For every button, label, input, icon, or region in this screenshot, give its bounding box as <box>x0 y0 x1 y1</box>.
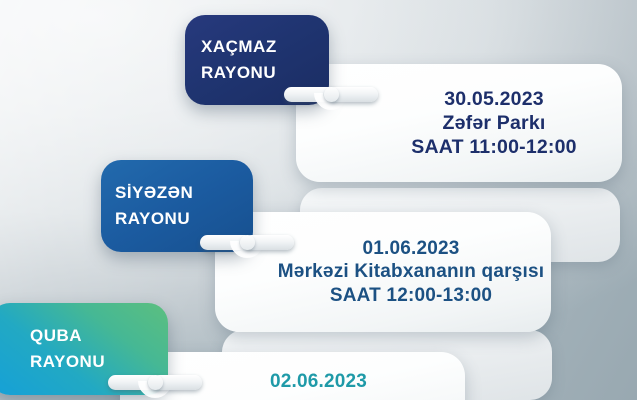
district-badge-quba[interactable]: QUBA RAYONU <box>0 303 168 395</box>
badge-3-district: QUBA <box>30 323 168 349</box>
event-1-place: Zəfər Parkı <box>442 111 545 135</box>
event-2-time: SAAT 12:00-13:00 <box>330 284 492 308</box>
poster-canvas: 30.05.2023 Zəfər Parkı SAAT 11:00-12:00 … <box>0 0 637 400</box>
badge-1-suffix: RAYONU <box>201 60 329 86</box>
event-panel-1[interactable]: 30.05.2023 Zəfər Parkı SAAT 11:00-12:00 <box>296 64 622 182</box>
badge-3-suffix: RAYONU <box>30 349 168 375</box>
badge-1-district: XAÇMAZ <box>201 34 329 60</box>
badge-2-suffix: RAYONU <box>115 206 253 232</box>
event-1-date: 30.05.2023 <box>444 87 544 111</box>
badge-2-district: SİYƏZƏN <box>115 180 253 206</box>
district-badge-xacmaz[interactable]: XAÇMAZ RAYONU <box>185 15 329 105</box>
event-2-place: Mərkəzi Kitabxananın qarşısı <box>278 260 544 284</box>
event-1-time: SAAT 11:00-12:00 <box>411 135 576 159</box>
event-panel-3[interactable]: 02.06.2023 <box>120 352 465 400</box>
event-3-date: 02.06.2023 <box>270 370 367 394</box>
district-badge-siyezen[interactable]: SİYƏZƏN RAYONU <box>101 160 253 252</box>
event-2-date: 01.06.2023 <box>362 237 459 261</box>
event-panel-2[interactable]: 01.06.2023 Mərkəzi Kitabxananın qarşısı … <box>215 212 551 332</box>
